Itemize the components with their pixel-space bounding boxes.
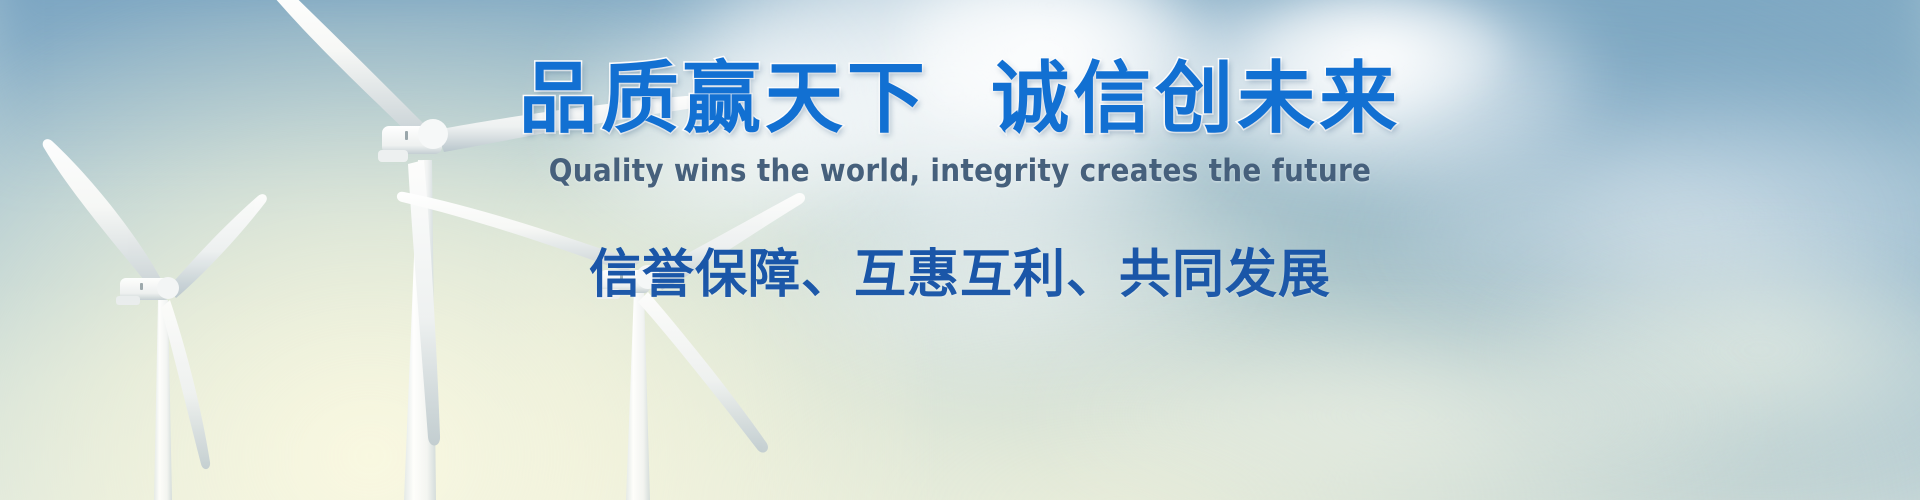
hero-banner: 品质赢天下 诚信创未来 Quality wins the world, inte…: [0, 0, 1920, 500]
banner-text-stack: 品质赢天下 诚信创未来 Quality wins the world, inte…: [0, 60, 1920, 301]
banner-headline: 品质赢天下 诚信创未来: [0, 60, 1920, 138]
banner-subheadline: Quality wins the world, integrity create…: [0, 156, 1920, 187]
banner-tagline: 信誉保障、互惠互利、共同发展: [0, 249, 1920, 301]
turbine-right-blade-3: [638, 292, 768, 453]
turbine-right-tower: [626, 290, 650, 500]
